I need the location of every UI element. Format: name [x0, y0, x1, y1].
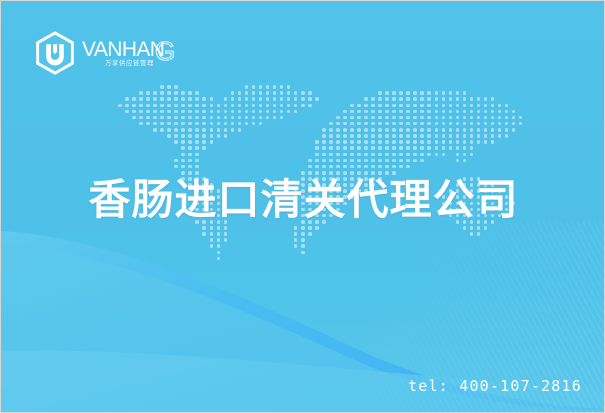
- map-dot: [456, 104, 460, 108]
- map-dot: [456, 110, 460, 114]
- map-dot: [413, 116, 417, 120]
- map-dot: [231, 97, 235, 101]
- map-dot: [392, 97, 396, 101]
- map-dot: [266, 85, 270, 89]
- map-dot: [350, 134, 354, 138]
- map-dot: [385, 122, 389, 126]
- map-dot: [519, 122, 523, 126]
- map-dot: [357, 134, 361, 138]
- map-dot: [385, 128, 389, 132]
- map-dot: [252, 104, 256, 108]
- map-dot: [371, 104, 375, 108]
- map-dot: [322, 128, 326, 132]
- map-dot: [477, 97, 481, 101]
- map-dot: [343, 128, 347, 132]
- map-dot: [195, 110, 199, 114]
- map-dot: [378, 140, 382, 144]
- map-dot: [350, 146, 354, 150]
- map-dot: [217, 110, 221, 114]
- map-dot: [491, 134, 495, 138]
- map-dot: [357, 146, 361, 150]
- map-dot: [195, 134, 199, 138]
- map-dot: [371, 128, 375, 132]
- map-dot: [406, 159, 410, 163]
- map-dot: [322, 153, 326, 157]
- map-dot: [463, 140, 467, 144]
- map-dot: [231, 122, 235, 126]
- map-dot: [153, 104, 157, 108]
- map-dot: [470, 146, 474, 150]
- map-dot: [456, 159, 460, 163]
- map-dot: [174, 165, 178, 169]
- map-dot: [294, 244, 298, 248]
- map-dot: [413, 110, 417, 114]
- map-dot: [280, 91, 284, 95]
- map-dot: [266, 97, 270, 101]
- map-dot: [498, 128, 502, 132]
- map-dot: [217, 232, 221, 236]
- map-dot: [266, 104, 270, 108]
- map-dot: [357, 159, 361, 163]
- wordmark-text-g: G: [155, 36, 175, 66]
- map-dot: [470, 153, 474, 157]
- map-dot: [139, 116, 143, 120]
- map-dot: [125, 97, 129, 101]
- map-dot: [195, 128, 199, 132]
- map-dot: [245, 91, 249, 95]
- map-dot: [470, 122, 474, 126]
- map-dot: [392, 134, 396, 138]
- map-dot: [287, 110, 291, 114]
- map-dot: [167, 85, 171, 89]
- map-dot: [153, 128, 157, 132]
- map-dot: [315, 153, 319, 157]
- map-dot: [392, 159, 396, 163]
- map-dot: [343, 140, 347, 144]
- map-dot: [498, 110, 502, 114]
- map-dot: [505, 122, 509, 126]
- map-dot: [167, 134, 171, 138]
- map-dot: [364, 159, 368, 163]
- map-dot: [231, 110, 235, 114]
- map-dot: [442, 91, 446, 95]
- map-dot: [420, 116, 424, 120]
- map-dot: [385, 153, 389, 157]
- map-dot: [188, 128, 192, 132]
- map-dot: [245, 97, 249, 101]
- map-dot: [224, 232, 228, 236]
- map-dot: [308, 104, 312, 108]
- map-dot: [378, 134, 382, 138]
- map-dot: [406, 91, 410, 95]
- map-dot: [174, 128, 178, 132]
- map-dot: [498, 134, 502, 138]
- map-dot: [491, 140, 495, 144]
- map-dot: [301, 91, 305, 95]
- map-dot: [413, 134, 417, 138]
- map-dot: [160, 104, 164, 108]
- map-dot: [350, 110, 354, 114]
- map-dot: [238, 91, 242, 95]
- map-dot: [336, 159, 340, 163]
- map-dot: [442, 110, 446, 114]
- map-dot: [413, 153, 417, 157]
- brand-sub-wordmark-text: 万享供应链管理: [105, 58, 154, 67]
- map-dot: [406, 146, 410, 150]
- map-dot: [463, 97, 467, 101]
- map-dot: [505, 128, 509, 132]
- map-dot: [427, 110, 431, 114]
- map-dot: [371, 165, 375, 169]
- map-dot: [420, 153, 424, 157]
- map-dot: [329, 122, 333, 126]
- map-dot: [378, 165, 382, 169]
- map-dot: [315, 159, 319, 163]
- map-dot: [266, 91, 270, 95]
- map-dot: [491, 116, 495, 120]
- map-dot: [280, 104, 284, 108]
- map-dot: [202, 146, 206, 150]
- map-dot: [491, 97, 495, 101]
- map-dot: [456, 128, 460, 132]
- map-dot: [160, 128, 164, 132]
- map-dot: [160, 110, 164, 114]
- map-dot: [238, 116, 242, 120]
- map-dot: [188, 116, 192, 120]
- map-dot: [181, 134, 185, 138]
- map-dot: [392, 91, 396, 95]
- map-dot: [427, 97, 431, 101]
- promo-banner: VANHAN G 万享供应链管理 香肠进口清关代理公司 tel: 400-107…: [0, 0, 605, 413]
- map-dot: [210, 232, 214, 236]
- map-dot: [392, 110, 396, 114]
- map-dot: [442, 128, 446, 132]
- map-dot: [118, 104, 122, 108]
- map-dot: [512, 110, 516, 114]
- map-dot: [280, 85, 284, 89]
- map-dot: [420, 159, 424, 163]
- map-dot: [385, 134, 389, 138]
- map-dot: [329, 146, 333, 150]
- map-dot: [442, 140, 446, 144]
- map-dot: [449, 146, 453, 150]
- map-dot: [463, 134, 467, 138]
- map-dot: [378, 110, 382, 114]
- map-dot: [420, 97, 424, 101]
- map-dot: [413, 140, 417, 144]
- map-dot: [477, 116, 481, 120]
- map-dot: [259, 104, 263, 108]
- map-dot: [181, 97, 185, 101]
- map-dot: [406, 116, 410, 120]
- map-dot: [442, 122, 446, 126]
- map-dot: [153, 91, 157, 95]
- map-dot: [336, 128, 340, 132]
- map-dot: [210, 134, 214, 138]
- map-dot: [245, 85, 249, 89]
- map-dot: [174, 116, 178, 120]
- map-dot: [399, 153, 403, 157]
- map-dot: [385, 159, 389, 163]
- map-dot: [477, 110, 481, 114]
- map-dot: [273, 85, 277, 89]
- map-dot: [399, 134, 403, 138]
- map-dot: [392, 153, 396, 157]
- map-dot: [195, 91, 199, 95]
- map-dot: [470, 140, 474, 144]
- map-dot: [146, 91, 150, 95]
- map-dot: [308, 159, 312, 163]
- map-dot: [463, 116, 467, 120]
- map-dot: [484, 122, 488, 126]
- map-dot: [512, 116, 516, 120]
- map-dot: [491, 110, 495, 114]
- map-dot: [364, 104, 368, 108]
- map-dot: [456, 146, 460, 150]
- map-dot: [357, 128, 361, 132]
- map-dot: [343, 153, 347, 157]
- map-dot: [217, 122, 221, 126]
- map-dot: [252, 91, 256, 95]
- map-dot: [519, 116, 523, 120]
- map-dot: [238, 104, 242, 108]
- map-dot: [392, 146, 396, 150]
- map-dot: [392, 128, 396, 132]
- map-dot: [413, 146, 417, 150]
- map-dot: [498, 104, 502, 108]
- map-dot: [435, 146, 439, 150]
- map-dot: [287, 85, 291, 89]
- map-dot: [456, 153, 460, 157]
- map-dot: [413, 128, 417, 132]
- map-dot: [181, 165, 185, 169]
- map-dot: [435, 116, 439, 120]
- map-dot: [435, 128, 439, 132]
- map-dot: [406, 97, 410, 101]
- map-dot: [195, 104, 199, 108]
- map-dot: [181, 153, 185, 157]
- map-dot: [350, 165, 354, 169]
- map-dot: [315, 165, 319, 169]
- map-dot: [146, 104, 150, 108]
- map-dot: [188, 91, 192, 95]
- map-dot: [371, 110, 375, 114]
- map-dot: [484, 128, 488, 132]
- map-dot: [413, 122, 417, 126]
- map-dot: [231, 128, 235, 132]
- map-dot: [181, 122, 185, 126]
- map-dot: [202, 232, 206, 236]
- map-dot: [484, 116, 488, 120]
- map-dot: [435, 104, 439, 108]
- map-dot: [181, 91, 185, 95]
- map-dot: [371, 97, 375, 101]
- map-dot: [371, 140, 375, 144]
- map-dot: [210, 97, 214, 101]
- map-dot: [188, 104, 192, 108]
- map-dot: [378, 146, 382, 150]
- map-dot: [456, 134, 460, 138]
- map-dot: [202, 104, 206, 108]
- map-dot: [364, 140, 368, 144]
- map-dot: [406, 122, 410, 126]
- map-dot: [399, 165, 403, 169]
- map-dot: [188, 146, 192, 150]
- map-dot: [287, 97, 291, 101]
- map-dot: [160, 122, 164, 126]
- map-dot: [463, 153, 467, 157]
- map-dot: [456, 97, 460, 101]
- map-dot: [188, 159, 192, 163]
- map-dot: [477, 104, 481, 108]
- map-dot: [449, 104, 453, 108]
- map-dot: [470, 116, 474, 120]
- map-dot: [357, 153, 361, 157]
- map-dot: [357, 110, 361, 114]
- map-dot: [491, 128, 495, 132]
- map-dot: [406, 165, 410, 169]
- map-dot: [210, 116, 214, 120]
- map-dot: [350, 104, 354, 108]
- map-dot: [252, 110, 256, 114]
- map-dot: [399, 159, 403, 163]
- map-dot: [470, 128, 474, 132]
- map-dot: [132, 104, 136, 108]
- map-dot: [308, 165, 312, 169]
- map-dot: [160, 116, 164, 120]
- map-dot: [146, 116, 150, 120]
- map-dot: [273, 116, 277, 120]
- map-dot: [427, 122, 431, 126]
- map-dot: [470, 97, 474, 101]
- map-dot: [153, 97, 157, 101]
- map-dot: [287, 91, 291, 95]
- map-dot: [463, 122, 467, 126]
- map-dot: [195, 153, 199, 157]
- map-dot: [350, 153, 354, 157]
- map-dot: [181, 140, 185, 144]
- map-dot: [498, 122, 502, 126]
- map-dot: [420, 91, 424, 95]
- map-dot: [146, 110, 150, 114]
- map-dot: [125, 110, 129, 114]
- map-dot: [202, 128, 206, 132]
- map-dot: [420, 140, 424, 144]
- map-dot: [406, 134, 410, 138]
- map-dot: [174, 140, 178, 144]
- map-dot: [449, 134, 453, 138]
- map-dot: [470, 134, 474, 138]
- map-dot: [202, 122, 206, 126]
- map-dot: [442, 134, 446, 138]
- map-dot: [378, 97, 382, 101]
- map-dot: [210, 128, 214, 132]
- map-dot: [420, 110, 424, 114]
- map-dot: [449, 140, 453, 144]
- map-dot: [210, 122, 214, 126]
- map-dot: [181, 104, 185, 108]
- map-dot: [420, 128, 424, 132]
- map-dot: [456, 91, 460, 95]
- map-dot: [224, 238, 228, 242]
- map-dot: [160, 91, 164, 95]
- map-dot: [217, 104, 221, 108]
- map-dot: [210, 104, 214, 108]
- map-dot: [385, 146, 389, 150]
- map-dot: [385, 140, 389, 144]
- map-dot: [231, 104, 235, 108]
- map-dot: [427, 128, 431, 132]
- map-dot: [512, 122, 516, 126]
- map-dot: [350, 122, 354, 126]
- map-dot: [259, 85, 263, 89]
- map-dot: [420, 146, 424, 150]
- map-dot: [364, 165, 368, 169]
- map-dot: [167, 128, 171, 132]
- map-dot: [491, 122, 495, 126]
- map-dot: [322, 165, 326, 169]
- map-dot: [259, 122, 263, 126]
- map-dot: [167, 91, 171, 95]
- map-dot: [308, 91, 312, 95]
- map-dot: [245, 116, 249, 120]
- map-dot: [252, 85, 256, 89]
- map-dot: [273, 91, 277, 95]
- map-dot: [245, 122, 249, 126]
- map-dot: [449, 116, 453, 120]
- map-dot: [357, 116, 361, 120]
- map-dot: [406, 140, 410, 144]
- map-dot: [378, 116, 382, 120]
- map-dot: [442, 146, 446, 150]
- map-dot: [224, 122, 228, 126]
- map-dot: [153, 122, 157, 126]
- map-dot: [238, 128, 242, 132]
- map-dot: [484, 104, 488, 108]
- map-dot: [435, 122, 439, 126]
- map-dot: [202, 110, 206, 114]
- map-dot: [385, 165, 389, 169]
- map-dot: [195, 165, 199, 169]
- map-dot: [188, 153, 192, 157]
- map-dot: [139, 91, 143, 95]
- map-dot: [188, 97, 192, 101]
- map-dot: [427, 134, 431, 138]
- map-dot: [364, 134, 368, 138]
- map-dot: [399, 146, 403, 150]
- map-dot: [427, 146, 431, 150]
- map-dot: [195, 122, 199, 126]
- contact-phone: tel: 400-107-2816: [408, 377, 582, 395]
- map-dot: [181, 116, 185, 120]
- map-dot: [385, 97, 389, 101]
- map-dot: [336, 165, 340, 169]
- map-dot: [399, 122, 403, 126]
- map-dot: [322, 140, 326, 144]
- map-dot: [217, 116, 221, 120]
- map-dot: [266, 116, 270, 120]
- map-dot: [378, 159, 382, 163]
- map-dot: [139, 104, 143, 108]
- map-dot: [505, 134, 509, 138]
- map-dot: [287, 104, 291, 108]
- map-dot: [435, 110, 439, 114]
- map-dot: [357, 122, 361, 126]
- page-title: 香肠进口清关代理公司: [1, 173, 605, 227]
- map-dot: [463, 104, 467, 108]
- map-dot: [406, 128, 410, 132]
- map-dot: [399, 110, 403, 114]
